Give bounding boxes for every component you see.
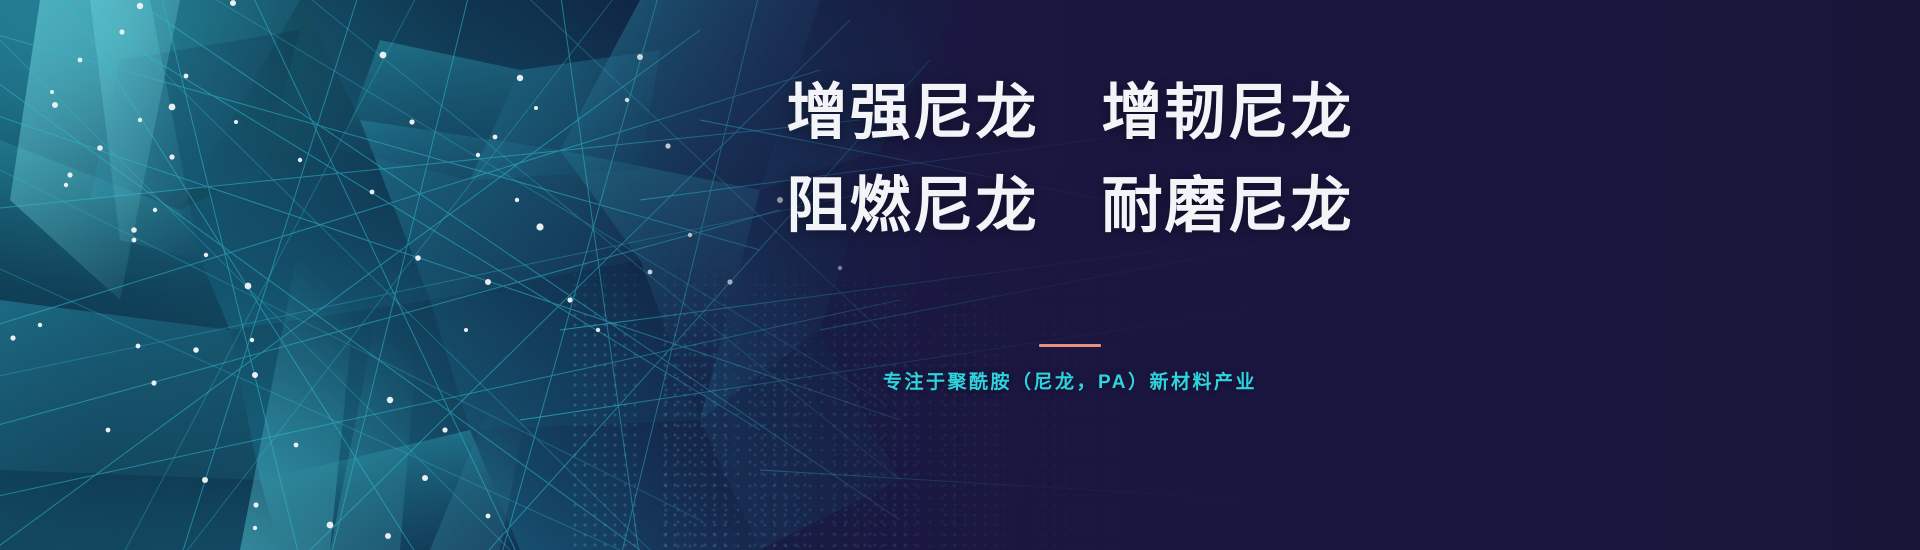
tagline-text: 专注于聚酰胺（尼龙，PA）新材料产业 (720, 367, 1420, 394)
tagline-divider (1039, 344, 1101, 347)
headline-line-2: 阻燃尼龙 耐磨尼龙 (720, 175, 1420, 236)
hero-banner: 增强尼龙 增韧尼龙 阻燃尼龙 耐磨尼龙 专注于聚酰胺（尼龙，PA）新材料产业 (0, 0, 1920, 550)
hero-content: 增强尼龙 增韧尼龙 阻燃尼龙 耐磨尼龙 专注于聚酰胺（尼龙，PA）新材料产业 (720, 82, 1420, 394)
headline-line-1: 增强尼龙 增韧尼龙 (720, 82, 1420, 143)
tagline-block: 专注于聚酰胺（尼龙，PA）新材料产业 (720, 344, 1420, 394)
